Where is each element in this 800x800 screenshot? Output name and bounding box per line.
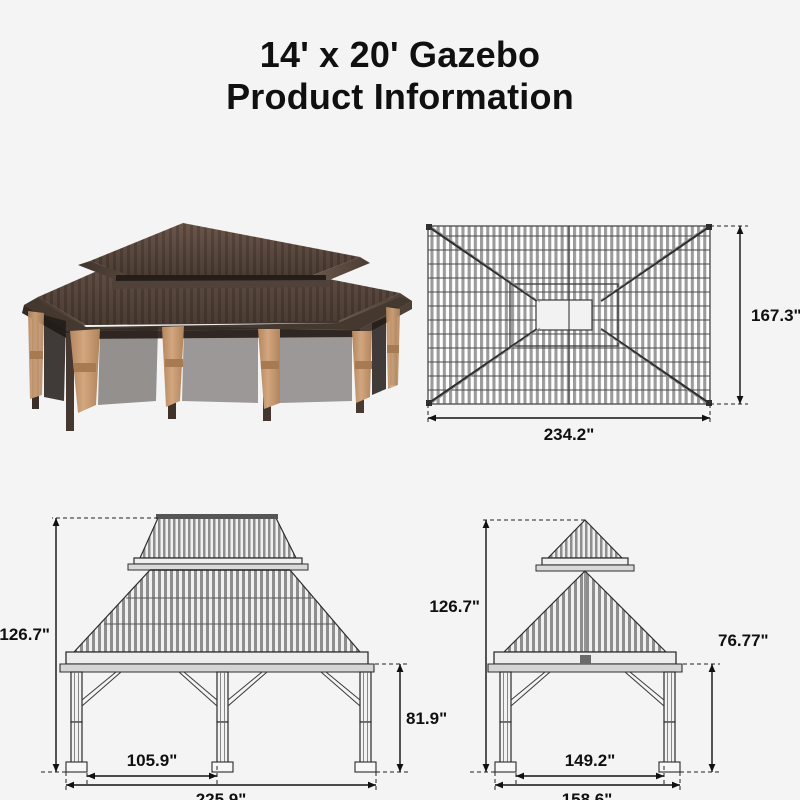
roof-top-view: 167.3" 234.2" (418, 200, 792, 450)
top-view-height-label: 167.3" (751, 306, 800, 325)
title-line-2: Product Information (0, 76, 800, 118)
roof-plan-body (426, 224, 712, 406)
product-photo (8, 205, 418, 435)
side-post-height-dimension: 76.77" (676, 631, 769, 772)
front-bay-width-label: 105.9" (127, 751, 178, 770)
side-post-height-label: 76.77" (718, 631, 769, 650)
front-overall-height-label: 126.7" (0, 625, 50, 644)
product-information-page: 14' x 20' Gazebo Product Information (0, 0, 800, 800)
side-corner-brackets (511, 672, 664, 706)
top-view-height-dimension: 167.3" (710, 226, 800, 404)
side-inner-width-label: 149.2" (565, 751, 616, 770)
side-overall-width-label: 158.6" (562, 790, 613, 800)
front-posts (66, 672, 376, 772)
front-upper-roof (128, 514, 308, 570)
front-bay-width-dimension: 105.9" (87, 751, 217, 784)
title-line-1: 14' x 20' Gazebo (0, 34, 800, 76)
side-overall-height-label: 126.7" (429, 597, 480, 616)
front-elevation-view: 126.7" 81.9" 105.9" (8, 500, 438, 790)
side-inner-width-dimension: 149.2" (516, 751, 664, 784)
side-elevation-view: 126.7" 76.77" 149.2" (430, 500, 800, 790)
gazebo-upper-roof (78, 223, 370, 289)
side-upper-roof (536, 520, 634, 571)
top-view-width-dimension: 234.2" (428, 404, 710, 444)
top-view-width-label: 234.2" (544, 425, 595, 444)
side-lower-roof (488, 571, 682, 672)
page-title: 14' x 20' Gazebo Product Information (0, 34, 800, 118)
front-lower-roof (60, 570, 374, 672)
front-overall-width-label: 225.9" (196, 790, 247, 800)
